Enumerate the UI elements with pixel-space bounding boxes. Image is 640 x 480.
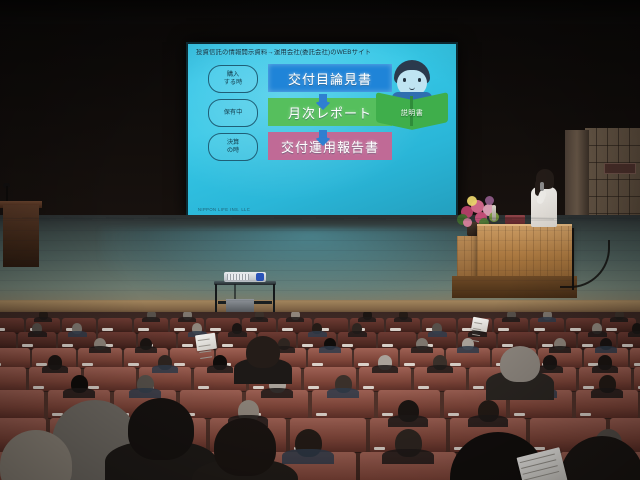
stage-label-pill: 決算 の時 [208, 133, 258, 161]
audience-shoulders [628, 331, 640, 337]
seat-number-tag [606, 328, 617, 331]
book-label: 説明書 [396, 108, 428, 118]
pill-line-2: の時 [227, 147, 239, 155]
audience-head [246, 336, 280, 368]
seat-number-tag [246, 328, 257, 331]
audience-shoulders [327, 388, 359, 398]
audience-shoulders [207, 365, 234, 373]
audience-shoulders [372, 365, 399, 373]
audience-seating [0, 312, 640, 480]
audience-shoulders [411, 346, 434, 353]
audience-shoulders [428, 331, 447, 337]
stage-label-pill: 保有中 [208, 99, 258, 127]
seat-number-tag [583, 386, 594, 389]
audience-shoulders [308, 331, 327, 337]
side-lectern [3, 205, 39, 267]
audience-shoulders [610, 317, 627, 322]
seat-number-tag [570, 328, 581, 331]
seat-number-tag [128, 363, 139, 366]
audience-shoulders [34, 317, 51, 322]
boy-reading-icon: 説明書 [374, 58, 450, 134]
projection-screen: 投資信託の情報開示資料→運用会社(委託会社)のWEBサイト 購入 する時 交付目… [188, 44, 456, 216]
seat-number-tag [62, 344, 73, 347]
seat-number-tag [448, 413, 459, 416]
audience-shoulders [591, 388, 623, 398]
audience-shoulders [68, 331, 87, 337]
audience-shoulders [250, 317, 267, 322]
audience-shoulders [282, 449, 333, 465]
seat-number-tag [622, 344, 633, 347]
audience-shoulders [388, 415, 428, 427]
seat-number-tag [22, 344, 33, 347]
seat-number-tag [382, 413, 393, 416]
seat-number-tag [582, 344, 593, 347]
audience-shoulders [592, 365, 619, 373]
pill-line-1: 決算 [227, 139, 239, 147]
seat-number-tag [182, 344, 193, 347]
down-arrow-icon [314, 94, 332, 110]
audience-shoulders [319, 346, 342, 353]
audience-shoulders [152, 365, 179, 373]
seat [0, 348, 30, 368]
audience-shoulders [595, 346, 618, 353]
wall-sign [604, 163, 636, 174]
slide-logo: NIPPON LIFE INS. LLC [198, 207, 250, 212]
seat-number-tag [222, 344, 233, 347]
audience-shoulders [28, 331, 47, 337]
seat-number-tag [282, 328, 293, 331]
seat-number-tag [102, 328, 113, 331]
audience-shoulders [135, 346, 158, 353]
seat-number-tag [363, 386, 374, 389]
audience-shoulders [427, 365, 454, 373]
seat [0, 332, 16, 349]
seat-number-tag [498, 328, 509, 331]
pill-line-2: する時 [224, 79, 243, 87]
pill-line-1: 保有中 [224, 109, 243, 117]
audience-shoulders [63, 388, 95, 398]
ceiling-band [0, 0, 640, 24]
seat-number-tag [514, 413, 525, 416]
photo-scene: 投資信託の情報開示資料→運用会社(委託会社)のWEBサイト 購入 する時 交付目… [0, 0, 640, 480]
audience-shoulders [457, 346, 480, 353]
seat-number-tag [308, 386, 319, 389]
audience-shoulders [178, 317, 195, 322]
audience-head [128, 398, 194, 460]
down-arrow-icon [314, 130, 332, 146]
seat-number-tag [138, 328, 149, 331]
seat-number-tag [0, 328, 5, 331]
seat-number-tag [418, 386, 429, 389]
podium [477, 224, 572, 281]
seat-number-tag [358, 363, 369, 366]
handout-paper [195, 333, 217, 352]
audience-shoulders [468, 415, 508, 427]
slide-title: 投資信託の情報開示資料→運用会社(委託会社)のWEBサイト [196, 49, 450, 57]
audience-shoulders [286, 317, 303, 322]
audience-shoulders [502, 317, 519, 322]
seat-number-tag [82, 363, 93, 366]
seat [0, 367, 26, 391]
seat-number-tag [198, 386, 209, 389]
seat-number-tag [382, 344, 393, 347]
seat-number-tag [634, 363, 640, 366]
seat-number-tag [33, 386, 44, 389]
seat-number-tag [316, 413, 327, 416]
audience-shoulders [261, 388, 293, 398]
seat-number-tag [312, 363, 323, 366]
seat-number-tag [302, 344, 313, 347]
audience-shoulders [394, 317, 411, 322]
seat [0, 390, 44, 418]
audience-shoulders [348, 331, 367, 337]
audience-shoulders [129, 388, 161, 398]
seat-number-tag [210, 328, 221, 331]
seat-number-tag [342, 344, 353, 347]
audience-shoulders [42, 365, 69, 373]
audience-head [500, 346, 540, 382]
audience-shoulders [142, 317, 159, 322]
handout-paper [471, 317, 489, 333]
seat-number-tag [390, 328, 401, 331]
seat-number-tag [450, 363, 461, 366]
audience-shoulders [382, 449, 433, 465]
pill-line-1: 購入 [227, 71, 239, 79]
audience-shoulders [538, 317, 555, 322]
seat-number-tag [174, 328, 185, 331]
stage-label-pill: 購入 する時 [208, 65, 258, 93]
handheld-microphone-icon [540, 182, 544, 191]
audience-shoulders [549, 346, 572, 353]
seat-number-tag [374, 447, 385, 450]
audience-shoulders [358, 317, 375, 322]
seat-number-tag [473, 386, 484, 389]
audience-shoulders [588, 331, 607, 337]
seat-number-tag [253, 386, 264, 389]
seat-number-tag [534, 328, 545, 331]
audience-shoulders [228, 331, 247, 337]
audience-shoulders [89, 346, 112, 353]
seat-number-tag [404, 363, 415, 366]
seat-number-tag [580, 413, 591, 416]
audience-head [214, 418, 276, 476]
